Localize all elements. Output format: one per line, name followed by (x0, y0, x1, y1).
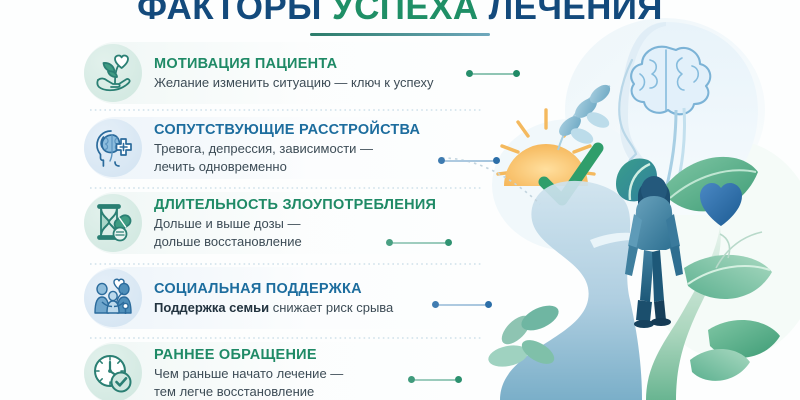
factor-text: СОПУТСТВУЮЩИЕ РАССТРОЙСТВА Тревога, депр… (154, 122, 420, 175)
factor-title: ДЛИТЕЛЬНОСТЬ ЗЛОУПОТРЕБЛЕНИЯ (154, 197, 436, 214)
factor-list: МОТИВАЦИЯ ПАЦИЕНТА Желание изменить ситу… (84, 42, 484, 400)
page-title-part1: ФАКТОРЫ (137, 0, 332, 27)
factor-item-comorbid-disorders[interactable]: СОПУТСТВУЮЩИЕ РАССТРОЙСТВА Тревога, депр… (84, 117, 484, 179)
head-brain-cross-icon (84, 119, 142, 177)
infographic-canvas: ФАКТОРЫ УСПЕХА ЛЕЧЕНИЯ (0, 0, 800, 400)
title-underline-rule (310, 33, 490, 36)
title-block: ФАКТОРЫ УСПЕХА ЛЕЧЕНИЯ (0, 0, 800, 36)
factor-item-early-treatment[interactable]: РАННЕЕ ОБРАЩЕНИЕ Чем раньше начато лечен… (84, 342, 484, 400)
factor-description-line2: тем легче восстановление (154, 384, 343, 400)
factor-description-line1: снижает риск срыва (269, 300, 393, 315)
factor-text: МОТИВАЦИЯ ПАЦИЕНТА Желание изменить ситу… (154, 56, 433, 91)
factor-title: СОПУТСТВУЮЩИЕ РАССТРОЙСТВА (154, 122, 420, 139)
connector-dot-end (513, 70, 520, 77)
recovery-journey-illustration (470, 0, 800, 400)
hand-heart-plant-icon (84, 44, 142, 102)
factor-description-line2: лечить одновременно (154, 159, 420, 175)
factor-description-bold: Поддержка семьи (154, 300, 269, 315)
factor-item-duration-of-abuse[interactable]: ДЛИТЕЛЬНОСТЬ ЗЛОУПОТРЕБЛЕНИЯ Дольше и вы… (84, 192, 484, 254)
factor-description: Поддержка семьи снижает риск срыва (154, 300, 393, 316)
connector-dot-end (493, 157, 500, 164)
factor-text: СОЦИАЛЬНАЯ ПОДДЕРЖКА Поддержка семьи сни… (154, 281, 393, 316)
factor-title: МОТИВАЦИЯ ПАЦИЕНТА (154, 56, 433, 73)
factor-description-line1: Тревога, депрессия, зависимости — (154, 141, 420, 157)
factor-text: ДЛИТЕЛЬНОСТЬ ЗЛОУПОТРЕБЛЕНИЯ Дольше и вы… (154, 197, 436, 250)
factor-description-line1: Желание изменить ситуацию — ключ к успех… (154, 75, 433, 90)
factor-description: Желание изменить ситуацию — ключ к успех… (154, 75, 433, 91)
page-title-part2: ЛЕЧЕНИЯ (479, 0, 663, 27)
factor-item-social-support[interactable]: СОЦИАЛЬНАЯ ПОДДЕРЖКА Поддержка семьи сни… (84, 267, 484, 329)
page-title-accent: УСПЕХА (332, 0, 479, 27)
factor-description-line1: Чем раньше начато лечение — (154, 366, 343, 382)
family-heart-icon (84, 269, 142, 327)
factor-title: РАННЕЕ ОБРАЩЕНИЕ (154, 347, 343, 364)
clock-check-icon (84, 344, 142, 400)
factor-text: РАННЕЕ ОБРАЩЕНИЕ Чем раньше начато лечен… (154, 347, 343, 400)
hourglass-pill-icon (84, 194, 142, 252)
factor-description-line1: Дольше и выше дозы — (154, 216, 436, 232)
factor-item-motivation[interactable]: МОТИВАЦИЯ ПАЦИЕНТА Желание изменить ситу… (84, 42, 484, 104)
factor-description-line2: дольше восстановление (154, 234, 436, 250)
page-title: ФАКТОРЫ УСПЕХА ЛЕЧЕНИЯ (0, 0, 800, 28)
factor-title: СОЦИАЛЬНАЯ ПОДДЕРЖКА (154, 281, 393, 298)
